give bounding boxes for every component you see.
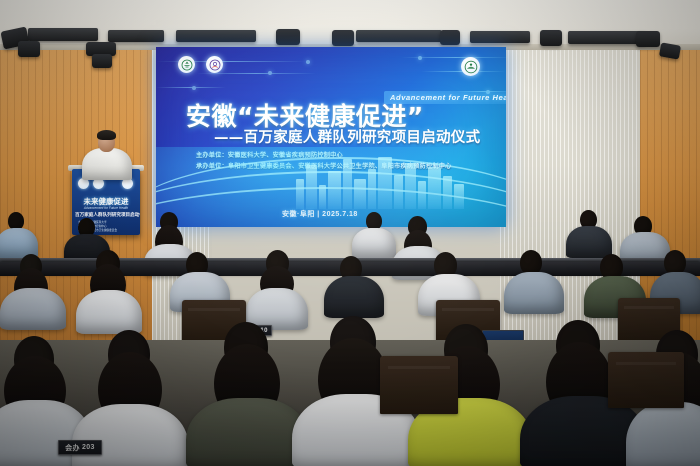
seat-placard: 会办 203 (58, 440, 102, 455)
ceiling-light-bar (356, 30, 442, 42)
placard-prefix: 会办 (65, 443, 80, 453)
ceiling-light-bar (108, 30, 164, 42)
podium-subtitle: 百万家庭人群队列研究项目启动仪式 (75, 212, 137, 218)
banner-footer: 安徽·阜阳 | 2025.7.18 (282, 209, 358, 219)
spotlight (18, 41, 40, 57)
chair (380, 356, 458, 414)
spotlight (540, 30, 562, 46)
anhui-cdc-logo (206, 56, 223, 73)
ceiling-light-bar (176, 30, 256, 42)
podium-title-en: Advancement for Future Health (77, 206, 135, 210)
anhui-medical-university-logo (178, 56, 195, 73)
led-screen-banner: 安徽“未来健康促进” Advancement for Future Health… (156, 47, 506, 227)
spotlight (636, 31, 660, 47)
spotlight (92, 54, 112, 68)
fuyang-cdc-logo (461, 57, 480, 76)
ceiling-light-bar (28, 28, 98, 41)
conference-photo: 安徽“未来健康促进” Advancement for Future Health… (0, 0, 700, 466)
spotlight (440, 30, 460, 45)
banner-title-en: Advancement for Future Health (384, 91, 506, 104)
city-skyline-graphic (296, 157, 466, 209)
ceiling-light-bar (568, 31, 646, 44)
speaker-hair (97, 130, 116, 140)
placard-number: 203 (82, 444, 95, 451)
chair (608, 352, 684, 408)
banner-subtitle: ——百万家庭人群队列研究项目启动仪式 (214, 126, 480, 147)
speaker-torso (82, 148, 132, 180)
spotlight (276, 29, 300, 45)
spotlight (332, 30, 354, 46)
ceiling-light-bar (470, 31, 530, 43)
